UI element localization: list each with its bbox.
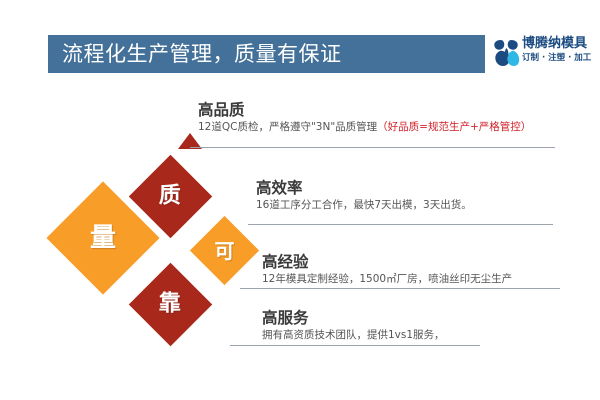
diamond-ke-label: 可 (215, 241, 235, 261)
logo-text-block: 博腾纳模具 订制 · 注塑 · 加工 (522, 36, 592, 64)
logo-tagline: 订制 · 注塑 · 加工 (522, 52, 592, 64)
feature-3-desc: 12年模具定制经验，1500㎡厂房，喷油丝印无尘生产 (262, 272, 512, 289)
feature-block-3: 高经验 12年模具定制经验，1500㎡厂房，喷油丝印无尘生产 (262, 252, 512, 289)
feature-block-4: 高服务 拥有高资质技术团队，提供1vs1服务， (262, 308, 445, 345)
page-title: 流程化生产管理，质量有保证 (62, 38, 472, 70)
feature-3-underline (240, 288, 560, 289)
feature-block-2: 高效率 16道工序分工合作，最快7天出模，3天出货。 (256, 178, 472, 215)
diamond-kao: 靠 (129, 263, 212, 346)
logo-company-name: 博腾纳模具 (522, 36, 592, 52)
diamond-kao-label: 靠 (159, 293, 181, 315)
feature-1-desc-accent: （好品质=规范生产+严格管控） (377, 121, 531, 133)
diamond-liang-label: 量 (90, 225, 116, 251)
diamond-zhi-label: 质 (159, 185, 181, 207)
feature-1-underline (190, 147, 555, 148)
feature-4-desc: 拥有高资质技术团队，提供1vs1服务， (262, 328, 445, 345)
feature-block-1: 高品质 12道QC质检，严格遵守"3N"品质管理（好品质=规范生产+严格管控） (198, 100, 531, 137)
feature-4-underline (230, 345, 480, 346)
feature-1-desc-main: 12道QC质检，严格遵守"3N"品质管理 (198, 121, 377, 133)
feature-2-underline (248, 224, 553, 225)
diamond-ke: 可 (190, 216, 259, 285)
feature-2-desc: 16道工序分工合作，最快7天出模，3天出货。 (256, 198, 472, 215)
slide-canvas: 流程化生产管理，质量有保证 博腾纳模具 订制 · 注塑 · 加工 量 质 可 靠… (0, 0, 600, 400)
feature-1-desc: 12道QC质检，严格遵守"3N"品质管理（好品质=规范生产+严格管控） (198, 120, 531, 137)
company-logo: 博腾纳模具 订制 · 注塑 · 加工 (492, 36, 592, 72)
feature-4-title: 高服务 (262, 308, 445, 328)
feature-3-title: 高经验 (262, 252, 512, 272)
feature-1-title: 高品质 (198, 100, 531, 120)
feature-2-title: 高效率 (256, 178, 472, 198)
butterfly-droplet-mark (492, 38, 520, 68)
